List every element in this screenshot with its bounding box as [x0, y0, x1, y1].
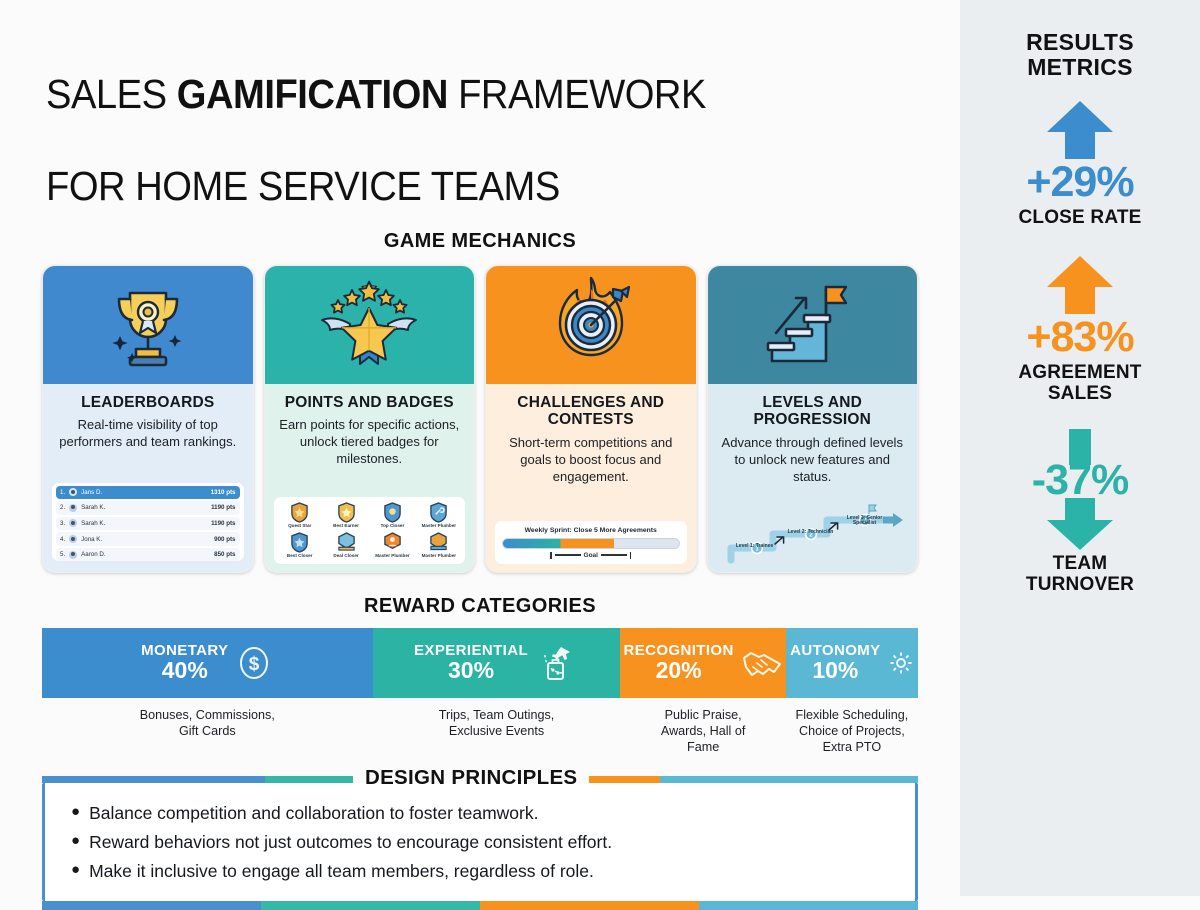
segment-percent: 10% [790, 659, 880, 682]
segment-text: AUTONOMY 10% [790, 643, 880, 683]
card-description: Advance through defined levels to unlock… [717, 435, 909, 485]
flaming-target-icon [543, 275, 639, 375]
badge-icon [429, 532, 448, 553]
badge-icon [429, 502, 448, 523]
badge-item[interactable]: Master Plumber [417, 502, 461, 529]
avatar [69, 504, 77, 512]
reward-segment-recognition[interactable]: RECOGNITION 20% [620, 628, 785, 698]
player-points: 850 pts [214, 551, 235, 558]
trophy-icon [105, 279, 191, 371]
badge-label: Best Closer [287, 554, 313, 559]
reward-desc-monetary: Bonuses, Commissions, Gift Cards [42, 707, 373, 756]
infographic-page: SALES GAMIFICATION FRAMEWORK FOR HOME SE… [0, 0, 1200, 896]
card-body: POINTS AND BADGES Earn points for specif… [265, 384, 475, 572]
reward-categories-heading: REWARD CATEGORIES [0, 595, 960, 618]
border-seg-orange [480, 901, 699, 910]
card-description: Short-term competitions and goals to boo… [495, 435, 687, 485]
progress-fill [503, 539, 614, 548]
design-principles-top-border: DESIGN PRINCIPLES [42, 776, 918, 783]
goal-marker: Goal [502, 552, 680, 559]
player-points: 1310 pts [211, 489, 236, 496]
segment-name: RECOGNITION [624, 643, 734, 658]
segment-name: AUTONOMY [790, 643, 880, 658]
design-principles-bottom-border [42, 901, 918, 910]
leaderboard-list: 1. Jans D. 1310 pts 2. Sarah K. 1190 pts [52, 483, 244, 562]
card-points-and-badges[interactable]: POINTS AND BADGES Earn points for specif… [264, 265, 476, 573]
rank: 4. [60, 536, 65, 543]
metric-value: +83% [1026, 316, 1133, 359]
card-title: LEADERBOARDS [81, 394, 214, 412]
avatar [69, 488, 77, 496]
badge-icon [290, 502, 309, 523]
border-seg-lightblue [660, 776, 918, 783]
list-item[interactable]: 4. Jona K. 900 pts [56, 532, 240, 545]
card-body: LEVELS AND PROGRESSION Advance through d… [708, 384, 918, 572]
design-principles-box: ●Balance competition and collaboration t… [42, 783, 918, 901]
badge-label: Best Earner [333, 524, 359, 529]
player-name: Sarah K. [81, 520, 207, 527]
badge-grid: Quest Star Best Earner Top Closer [274, 497, 466, 563]
principle-text: Make it inclusive to engage all team mem… [89, 857, 594, 886]
results-metrics-title: RESULTS METRICS [1026, 30, 1134, 81]
arrow-up-icon [1043, 99, 1117, 161]
player-name: Jans D. [81, 489, 207, 496]
card-header [708, 266, 918, 384]
dollar-circle-icon: $ [235, 644, 273, 682]
border-seg-teal [265, 776, 353, 783]
arrow-up-icon [1043, 254, 1117, 316]
progression-path: 1 2 3 Level 1: Trainee Level 2: Technici… [717, 502, 909, 564]
goal-tick-left [550, 552, 552, 559]
levels-path-widget: 1 2 3 Level 1: Trainee Level 2: Technici… [717, 502, 909, 564]
plane-suitcase-icon [535, 641, 579, 685]
badge-icon [290, 532, 309, 553]
principles-list: ●Balance competition and collaboration t… [45, 799, 915, 887]
mechanic-cards: LEADERBOARDS Real-time visibility of top… [0, 265, 960, 573]
rank: 1. [60, 489, 65, 496]
results-metrics-panel: RESULTS METRICS +29% CLOSE RATE +83% AGR… [960, 0, 1200, 896]
segment-percent: 30% [414, 659, 528, 682]
badge-icon [337, 502, 356, 523]
list-item[interactable]: 3. Sarah K. 1190 pts [56, 517, 240, 530]
reward-desc-experiential: Trips, Team Outings, Exclusive Events [373, 707, 621, 756]
player-name: Aaron D. [81, 551, 210, 558]
list-item[interactable]: 5. Aaron D. 850 pts [56, 548, 240, 561]
list-item: ●Make it inclusive to engage all team me… [71, 857, 889, 886]
rank: 3. [60, 520, 65, 527]
reward-segment-experiential[interactable]: EXPERIENTIAL 30% [373, 628, 621, 698]
border-seg-orange [589, 776, 659, 783]
goal-label: Goal [584, 552, 598, 559]
reward-bar: MONETARY 40% $ EXPERIENTIAL 30% [42, 628, 918, 698]
level-1-label: Level 1: Trainee [725, 544, 785, 550]
list-item: ●Balance competition and collaboration t… [71, 799, 889, 828]
level-2-label: Level 2: Technician [781, 530, 841, 536]
segment-name: EXPERIENTIAL [414, 643, 528, 658]
card-title: LEVELS AND PROGRESSION [717, 394, 909, 430]
badge-item[interactable]: Master Plumber [370, 532, 414, 559]
card-header [265, 266, 475, 384]
card-body: LEADERBOARDS Real-time visibility of top… [43, 384, 253, 572]
segment-text: RECOGNITION 20% [624, 643, 734, 683]
badge-label: Master Plumber [422, 524, 456, 529]
principle-text: Reward behaviors not just outcomes to en… [89, 828, 612, 857]
level-3-label: Level 3: Senior Specialist [835, 516, 895, 528]
goal-line-left [555, 554, 581, 556]
avatar [69, 535, 77, 543]
card-levels-and-progression[interactable]: LEVELS AND PROGRESSION Advance through d… [707, 265, 919, 573]
player-name: Jona K. [81, 536, 210, 543]
reward-segment-autonomy[interactable]: AUTONOMY 10% [786, 628, 918, 698]
metric-label: CLOSE RATE [1018, 208, 1141, 229]
page-title: SALES GAMIFICATION FRAMEWORK FOR HOME SE… [46, 26, 896, 210]
badge-icon [383, 532, 402, 553]
metric-team-turnover: -37% TEAM TURNOVER [960, 429, 1200, 596]
metric-label: TEAM TURNOVER [1026, 554, 1134, 596]
badge-item[interactable]: Top Closer [370, 502, 414, 529]
gear-icon [888, 650, 914, 676]
badge-item[interactable]: Best Earner [324, 502, 368, 529]
badge-item[interactable]: Master Plumber [417, 532, 461, 559]
handshake-icon [741, 646, 783, 680]
reward-categories: MONETARY 40% $ EXPERIENTIAL 30% [0, 628, 960, 756]
rank: 5. [60, 551, 65, 558]
badge-label: Master Plumber [422, 554, 456, 559]
reward-segment-monetary[interactable]: MONETARY 40% $ [42, 628, 373, 698]
game-mechanics-heading: GAME MECHANICS [0, 230, 960, 253]
main-content: SALES GAMIFICATION FRAMEWORK FOR HOME SE… [0, 0, 960, 896]
reward-desc-autonomy: Flexible Scheduling, Choice of Projects,… [786, 707, 918, 756]
star-wings-icon [314, 278, 424, 372]
card-description: Real-time visibility of top performers a… [52, 417, 244, 450]
svg-text:$: $ [249, 654, 260, 675]
badge-label: Master Plumber [375, 554, 409, 559]
card-description: Earn points for specific actions, unlock… [274, 417, 466, 467]
avatar [69, 551, 77, 559]
list-item[interactable]: 1. Jans D. 1310 pts [56, 486, 240, 499]
bullet-icon: ● [71, 799, 80, 825]
segment-percent: 40% [141, 659, 228, 682]
card-body: CHALLENGES AND CONTESTS Short-term compe… [486, 384, 696, 572]
player-points: 900 pts [214, 536, 235, 543]
card-title: POINTS AND BADGES [285, 394, 454, 412]
leaderboard-widget: 1. Jans D. 1310 pts 2. Sarah K. 1190 pts [52, 483, 244, 564]
goal-line-right [601, 554, 627, 556]
badge-icon [337, 532, 356, 553]
segment-text: MONETARY 40% [141, 643, 228, 683]
card-header [43, 266, 253, 384]
list-item: ●Reward behaviors not just outcomes to e… [71, 828, 889, 857]
badge-icon [383, 502, 402, 523]
title-line-1: SALES GAMIFICATION FRAMEWORK [46, 71, 706, 117]
badges-widget: Quest Star Best Earner Top Closer [274, 497, 466, 563]
metric-label: AGREEMENT SALES [1018, 363, 1141, 405]
border-seg-teal [261, 901, 480, 910]
badge-item[interactable]: Best Closer [278, 532, 322, 559]
card-leaderboards[interactable]: LEADERBOARDS Real-time visibility of top… [42, 265, 254, 573]
progress-bar [502, 538, 680, 549]
sprint-label: Weekly Sprint: Close 5 More Agreements [502, 527, 680, 534]
badge-item[interactable]: Deal Closer [324, 532, 368, 559]
player-points: 1190 pts [211, 520, 235, 527]
avatar [69, 519, 77, 527]
segment-percent: 20% [624, 659, 734, 682]
card-challenges-and-contests[interactable]: CHALLENGES AND CONTESTS Short-term compe… [485, 265, 697, 573]
list-item[interactable]: 2. Sarah K. 1190 pts [56, 501, 240, 514]
sprint-widget: Weekly Sprint: Close 5 More Agreements G… [495, 521, 687, 564]
card-header [486, 266, 696, 384]
badge-item[interactable]: Quest Star [278, 502, 322, 529]
badge-label: Deal Closer [333, 554, 358, 559]
badge-label: Quest Star [288, 524, 311, 529]
metric-value: +29% [1026, 161, 1133, 204]
title-line-2: FOR HOME SERVICE TEAMS [46, 163, 560, 209]
sprint-progress: Weekly Sprint: Close 5 More Agreements G… [495, 521, 687, 564]
goal-tick-right [630, 552, 632, 559]
design-principles-title: DESIGN PRINCIPLES [353, 766, 589, 790]
reward-desc-recognition: Public Praise, Awards, Hall of Fame [620, 707, 785, 756]
player-points: 1190 pts [211, 504, 235, 511]
badge-label: Top Closer [381, 524, 405, 529]
stairs-flag-icon [756, 277, 868, 373]
design-principles: DESIGN PRINCIPLES ●Balance competition a… [42, 776, 918, 910]
rank: 2. [60, 504, 65, 511]
border-seg-blue [42, 776, 265, 783]
metric-value: -37% [1032, 459, 1128, 502]
border-seg-blue [42, 901, 261, 910]
bullet-icon: ● [71, 857, 80, 883]
reward-descriptions: Bonuses, Commissions, Gift Cards Trips, … [42, 707, 918, 756]
border-seg-lightblue [699, 901, 918, 910]
card-title: CHALLENGES AND CONTESTS [495, 394, 687, 430]
player-name: Sarah K. [81, 504, 207, 511]
metric-close-rate: +29% CLOSE RATE [960, 99, 1200, 229]
arrow-down-head-icon [1043, 498, 1117, 552]
metric-agreement-sales: +83% AGREEMENT SALES [960, 254, 1200, 405]
segment-text: EXPERIENTIAL 30% [414, 643, 528, 683]
segment-name: MONETARY [141, 643, 228, 658]
bullet-icon: ● [71, 828, 80, 854]
principle-text: Balance competition and collaboration to… [89, 799, 538, 828]
